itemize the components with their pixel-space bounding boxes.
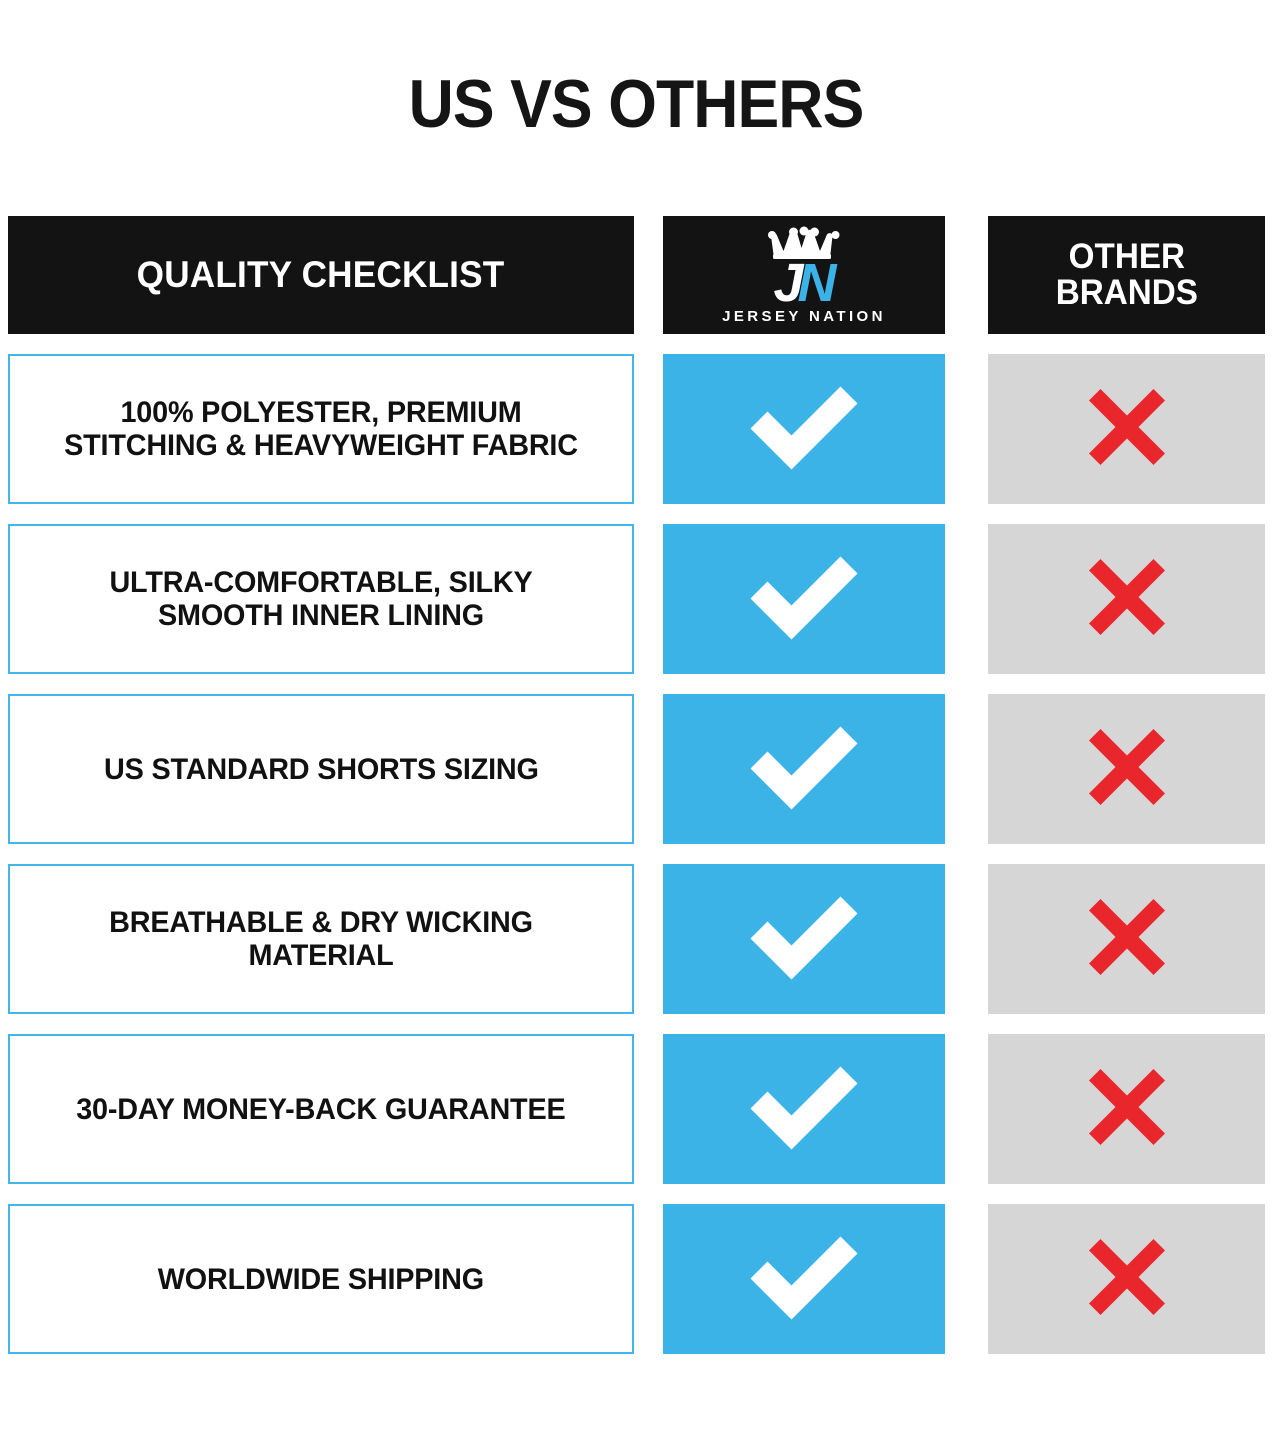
feature-label: WORLDWIDE SHIPPING: [158, 1263, 484, 1296]
brand-value-cell: [663, 1034, 945, 1184]
other-value-cell: [988, 524, 1265, 674]
feature-cell: BREATHABLE & DRY WICKING MATERIAL: [8, 864, 634, 1014]
page-title: US VS OTHERS: [51, 68, 1221, 140]
brand-value-cell: [663, 524, 945, 674]
cross-icon: [1085, 895, 1169, 984]
check-icon: [750, 554, 858, 645]
brand-value-cell: [663, 694, 945, 844]
table-body: 100% POLYESTER, PREMIUM STITCHING & HEAV…: [0, 354, 1272, 1354]
table-row: 30-DAY MONEY-BACK GUARANTEE: [0, 1034, 1272, 1184]
header-label-other-line2: BRANDS: [1055, 275, 1197, 311]
column-gutter: [634, 864, 663, 1014]
column-gutter: [634, 1204, 663, 1354]
column-gutter: [634, 216, 663, 334]
table-row: WORLDWIDE SHIPPING: [0, 1204, 1272, 1354]
cross-icon: [1085, 555, 1169, 644]
feature-label: BREATHABLE & DRY WICKING MATERIAL: [45, 906, 596, 972]
brand-value-cell: [663, 864, 945, 1014]
jn-monogram: J N: [773, 260, 834, 308]
jersey-nation-logo: J N JERSEY NATION: [722, 225, 886, 325]
logo-wordmark: JERSEY NATION: [722, 309, 886, 325]
feature-cell: 30-DAY MONEY-BACK GUARANTEE: [8, 1034, 634, 1184]
brand-value-cell: [663, 1204, 945, 1354]
header-label-other-brands: OTHER BRANDS: [1055, 239, 1197, 311]
column-gutter: [945, 216, 988, 334]
header-label-quality-checklist: QUALITY CHECKLIST: [137, 254, 505, 296]
table-row: 100% POLYESTER, PREMIUM STITCHING & HEAV…: [0, 354, 1272, 504]
column-gutter: [634, 524, 663, 674]
column-gutter: [945, 1034, 988, 1184]
header-cell-brand: J N JERSEY NATION: [663, 216, 945, 334]
column-gutter: [945, 1204, 988, 1354]
feature-label: 30-DAY MONEY-BACK GUARANTEE: [76, 1093, 565, 1126]
column-gutter: [634, 1034, 663, 1184]
feature-label: 100% POLYESTER, PREMIUM STITCHING & HEAV…: [45, 396, 596, 462]
other-value-cell: [988, 354, 1265, 504]
other-value-cell: [988, 1204, 1265, 1354]
check-icon: [750, 894, 858, 985]
header-cell-quality-checklist: QUALITY CHECKLIST: [8, 216, 634, 334]
check-icon: [750, 724, 858, 815]
feature-cell: ULTRA-COMFORTABLE, SILKY SMOOTH INNER LI…: [8, 524, 634, 674]
comparison-infographic: US VS OTHERS QUALITY CHECKLIST: [0, 0, 1272, 1431]
logo-letter-j: J: [773, 260, 799, 308]
table-row: BREATHABLE & DRY WICKING MATERIAL: [0, 864, 1272, 1014]
other-value-cell: [988, 864, 1265, 1014]
column-gutter: [945, 694, 988, 844]
logo-letter-n: N: [798, 260, 835, 308]
column-gutter: [634, 694, 663, 844]
feature-cell: 100% POLYESTER, PREMIUM STITCHING & HEAV…: [8, 354, 634, 504]
cross-icon: [1085, 385, 1169, 474]
table-row: ULTRA-COMFORTABLE, SILKY SMOOTH INNER LI…: [0, 524, 1272, 674]
check-icon: [750, 384, 858, 475]
column-gutter: [634, 354, 663, 504]
other-value-cell: [988, 694, 1265, 844]
table-header-row: QUALITY CHECKLIST: [0, 216, 1272, 334]
feature-cell: WORLDWIDE SHIPPING: [8, 1204, 634, 1354]
check-icon: [750, 1064, 858, 1155]
check-icon: [750, 1234, 858, 1325]
cross-icon: [1085, 1235, 1169, 1324]
table-row: US STANDARD SHORTS SIZING: [0, 694, 1272, 844]
feature-label: ULTRA-COMFORTABLE, SILKY SMOOTH INNER LI…: [45, 566, 596, 632]
feature-label: US STANDARD SHORTS SIZING: [104, 753, 539, 786]
column-gutter: [945, 354, 988, 504]
cross-icon: [1085, 725, 1169, 814]
comparison-table: QUALITY CHECKLIST: [0, 216, 1272, 1354]
other-value-cell: [988, 1034, 1265, 1184]
header-cell-other-brands: OTHER BRANDS: [988, 216, 1265, 334]
brand-value-cell: [663, 354, 945, 504]
cross-icon: [1085, 1065, 1169, 1154]
header-label-other-line1: OTHER: [1055, 239, 1197, 275]
column-gutter: [945, 864, 988, 1014]
column-gutter: [945, 524, 988, 674]
feature-cell: US STANDARD SHORTS SIZING: [8, 694, 634, 844]
